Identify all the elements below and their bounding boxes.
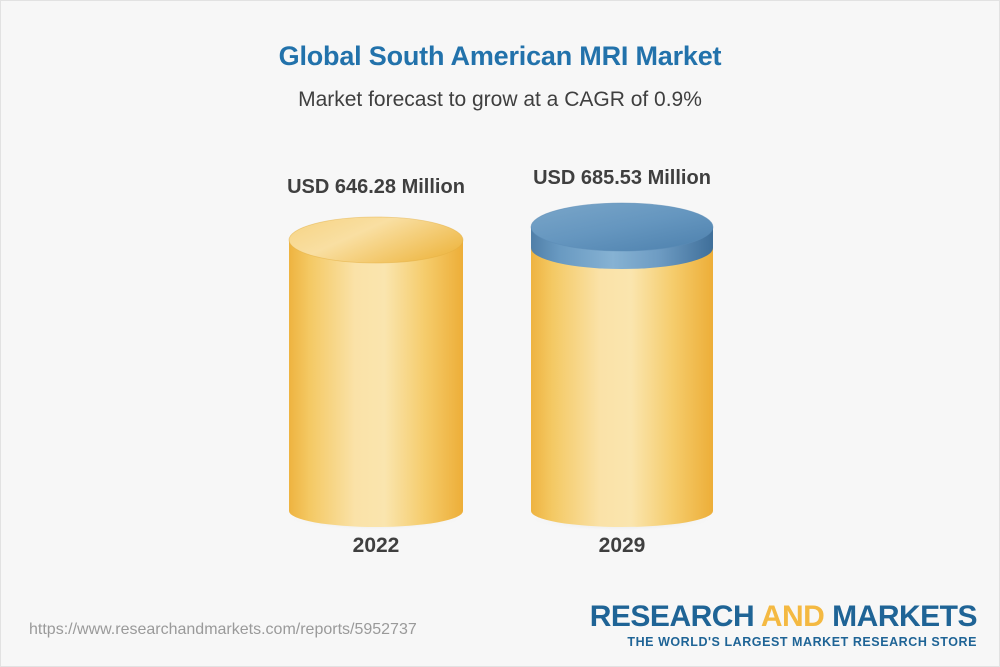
bar-2029[interactable] (526, 203, 718, 532)
bar-value-label-2029: USD 685.53 Million (462, 167, 782, 190)
logo-text-and: AND (761, 600, 825, 633)
logo-text-research: RESEARCH (590, 600, 761, 633)
bar-chart (1, 1, 1000, 667)
bar-category-label-2029: 2029 (462, 534, 782, 558)
logo-tagline: THE WORLD'S LARGEST MARKET RESEARCH STOR… (590, 635, 977, 649)
research-and-markets-logo[interactable]: RESEARCH AND MARKETS THE WORLD'S LARGEST… (590, 601, 977, 649)
logo-wordmark: RESEARCH AND MARKETS (590, 601, 977, 633)
report-url[interactable]: https://www.researchandmarkets.com/repor… (29, 621, 417, 639)
logo-text-markets: MARKETS (824, 600, 977, 633)
bar-2029-base-body (531, 248, 713, 527)
bar-2022-body (289, 240, 463, 527)
bar-2022[interactable] (284, 217, 468, 531)
chart-page: Global South American MRI Market Market … (0, 0, 1000, 667)
